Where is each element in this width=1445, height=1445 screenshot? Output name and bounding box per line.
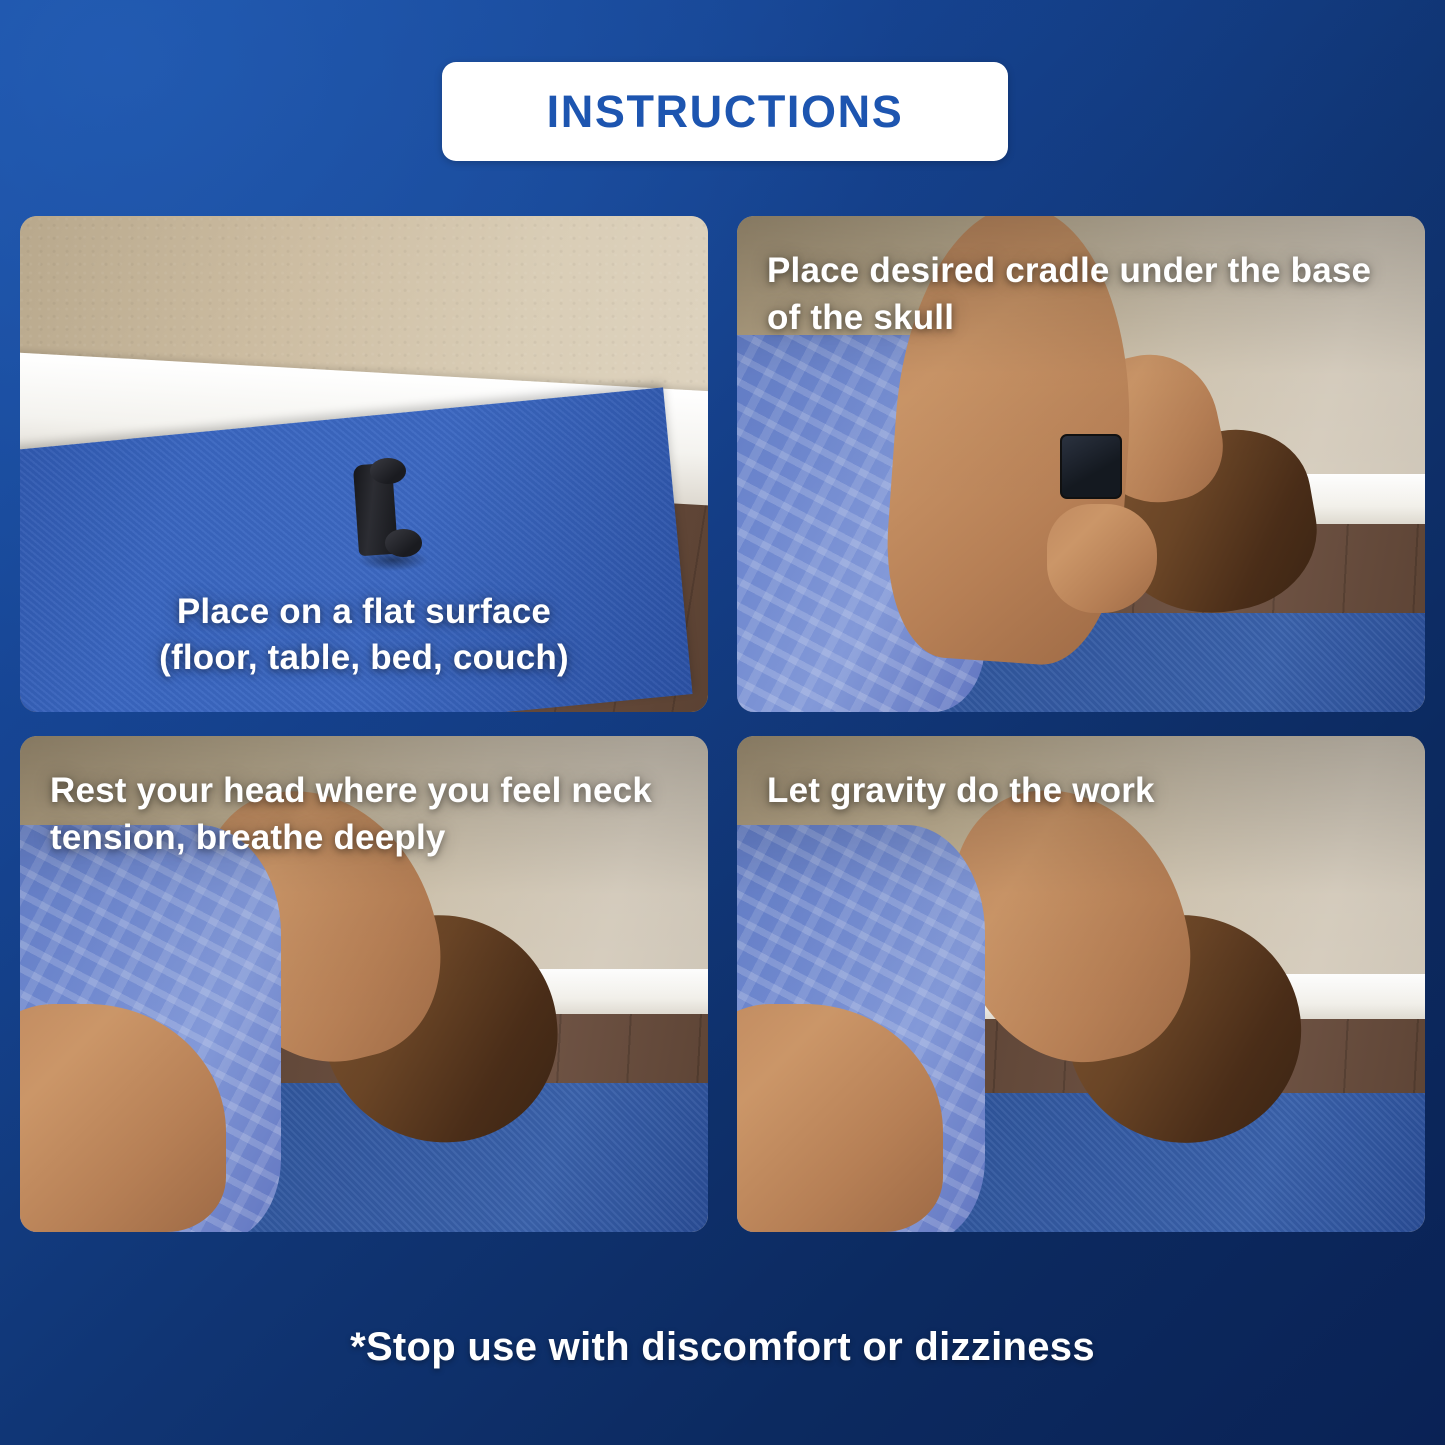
instruction-panel-grid: Place on a flat surface (floor, table, b…	[20, 216, 1425, 1232]
instruction-panel-place-flat-surface: Place on a flat surface (floor, table, b…	[20, 216, 708, 712]
neck-cradle-device	[340, 464, 429, 563]
instructions-title-card: INSTRUCTIONS	[442, 62, 1008, 161]
instructions-poster: INSTRUCTIONS Place on a flat surface (fl…	[0, 0, 1445, 1445]
panel-caption: Place desired cradle under the base of t…	[737, 248, 1425, 341]
safety-note: *Stop use with discomfort or dizziness	[0, 1325, 1445, 1370]
panel-caption: Rest your head where you feel neck tensi…	[20, 768, 708, 861]
panel-caption: Let gravity do the work	[737, 768, 1425, 815]
instruction-panel-rest-head-neck-tension: Rest your head where you feel neck tensi…	[20, 736, 708, 1232]
page-title: INSTRUCTIONS	[547, 89, 904, 134]
panel-caption: Place on a flat surface (floor, table, b…	[20, 589, 708, 682]
instruction-panel-let-gravity-work: Let gravity do the work	[737, 736, 1425, 1232]
device-knob-upper	[370, 458, 406, 484]
instruction-panel-place-cradle-under-skull: Place desired cradle under the base of t…	[737, 216, 1425, 712]
hand	[1047, 504, 1157, 613]
panel-caption-line-1: Place on a flat surface	[44, 589, 684, 636]
smartwatch	[1060, 434, 1122, 498]
panel-caption-line-2: (floor, table, bed, couch)	[44, 635, 684, 682]
